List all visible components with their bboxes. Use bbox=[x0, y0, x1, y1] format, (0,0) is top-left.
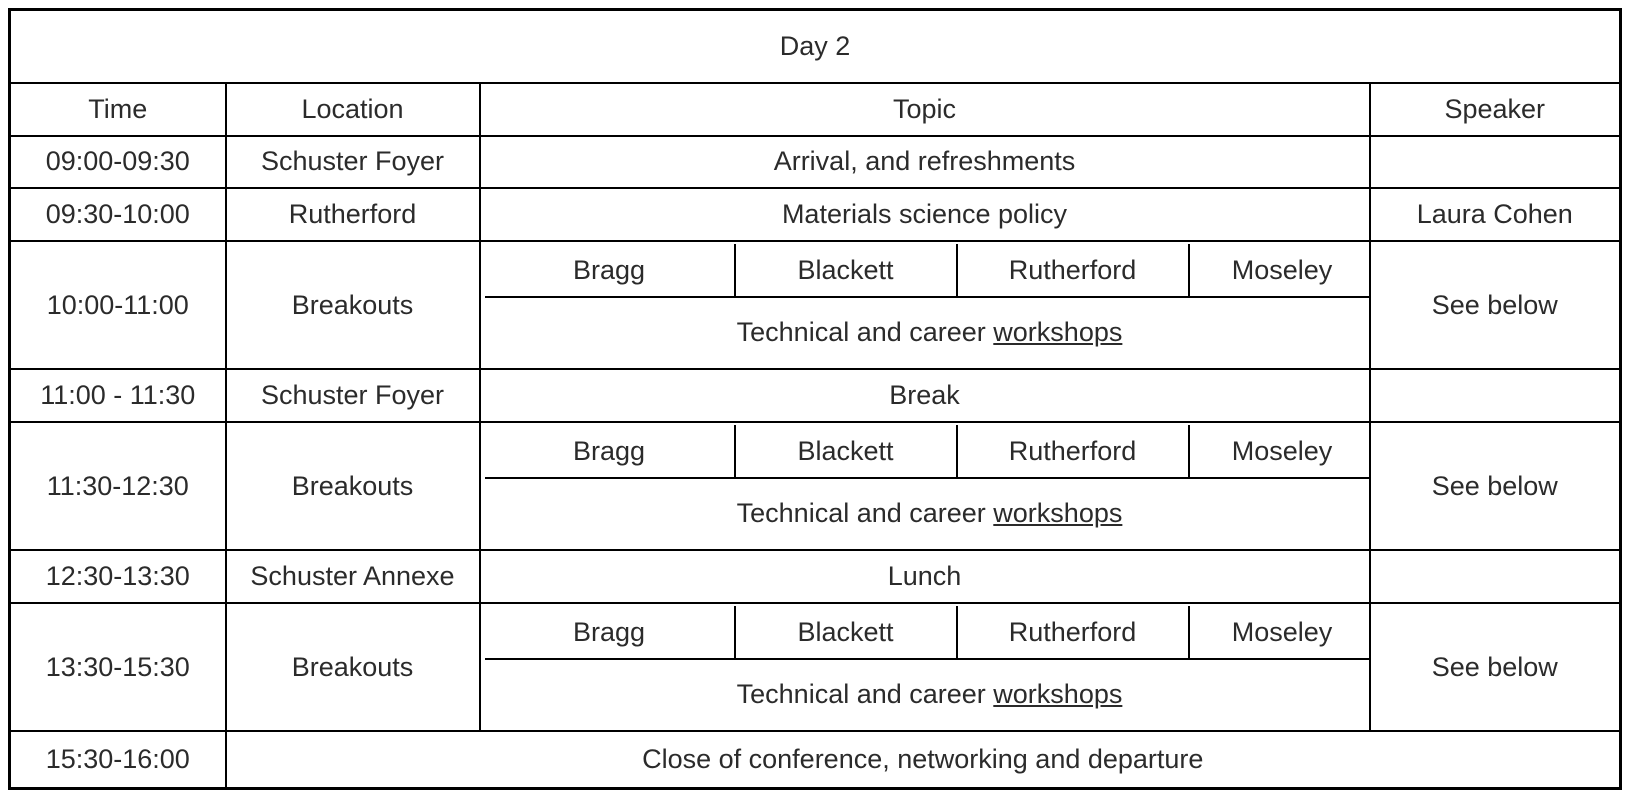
breakout-subtable: Bragg Blackett Rutherford Moseley Techni… bbox=[485, 606, 1375, 728]
breakout-topic-text: Technical and career bbox=[737, 498, 994, 528]
breakout-topic-text: Technical and career bbox=[737, 679, 994, 709]
breakout-topic-row: Technical and career workshops bbox=[485, 659, 1375, 728]
breakout-room-row: Bragg Blackett Rutherford Moseley bbox=[485, 425, 1375, 478]
cell-location: Schuster Foyer bbox=[226, 369, 480, 422]
cell-time: 09:00-09:30 bbox=[10, 136, 226, 188]
column-header-topic: Topic bbox=[480, 83, 1370, 136]
column-header-speaker: Speaker bbox=[1370, 83, 1621, 136]
cell-speaker: See below bbox=[1370, 241, 1621, 369]
breakout-room-rutherford: Rutherford bbox=[957, 606, 1189, 659]
cell-location: Breakouts bbox=[226, 422, 480, 550]
workshops-link[interactable]: workshops bbox=[993, 317, 1122, 347]
cell-time: 12:30-13:30 bbox=[10, 550, 226, 603]
breakout-room-blackett: Blackett bbox=[735, 606, 957, 659]
cell-time: 11:00 - 11:30 bbox=[10, 369, 226, 422]
column-header-location: Location bbox=[226, 83, 480, 136]
breakout-topic-cell: Technical and career workshops bbox=[485, 297, 1375, 366]
breakout-room-moseley: Moseley bbox=[1189, 606, 1375, 659]
column-header-time: Time bbox=[10, 83, 226, 136]
breakout-topic-text: Technical and career bbox=[737, 317, 994, 347]
breakout-room-bragg: Bragg bbox=[485, 606, 735, 659]
breakout-room-moseley: Moseley bbox=[1189, 244, 1375, 297]
breakout-topic-cell: Technical and career workshops bbox=[485, 659, 1375, 728]
table-row: 09:00-09:30 Schuster Foyer Arrival, and … bbox=[10, 136, 1621, 188]
breakout-topic-row: Technical and career workshops bbox=[485, 478, 1375, 547]
breakout-room-bragg: Bragg bbox=[485, 244, 735, 297]
cell-location: Rutherford bbox=[226, 188, 480, 241]
cell-speaker bbox=[1370, 550, 1621, 603]
cell-speaker: Laura Cohen bbox=[1370, 188, 1621, 241]
cell-topic-breakout: Bragg Blackett Rutherford Moseley Techni… bbox=[480, 603, 1370, 731]
cell-topic: Break bbox=[480, 369, 1370, 422]
cell-topic-full: Close of conference, networking and depa… bbox=[226, 731, 1621, 788]
cell-topic-breakout: Bragg Blackett Rutherford Moseley Techni… bbox=[480, 422, 1370, 550]
table-row: 09:30-10:00 Rutherford Materials science… bbox=[10, 188, 1621, 241]
breakout-topic-row: Technical and career workshops bbox=[485, 297, 1375, 366]
cell-speaker: See below bbox=[1370, 603, 1621, 731]
banner-row: Day 2 bbox=[10, 10, 1621, 83]
breakout-subtable: Bragg Blackett Rutherford Moseley Techni… bbox=[485, 425, 1375, 547]
day-title: Day 2 bbox=[10, 10, 1621, 83]
table-row: 11:00 - 11:30 Schuster Foyer Break bbox=[10, 369, 1621, 422]
table-row-breakout: 11:30-12:30 Breakouts Bragg Blackett Rut… bbox=[10, 422, 1621, 550]
cell-speaker bbox=[1370, 369, 1621, 422]
breakout-room-blackett: Blackett bbox=[735, 425, 957, 478]
cell-location: Schuster Annexe bbox=[226, 550, 480, 603]
cell-time: 11:30-12:30 bbox=[10, 422, 226, 550]
cell-topic-breakout: Bragg Blackett Rutherford Moseley Techni… bbox=[480, 241, 1370, 369]
breakout-room-rutherford: Rutherford bbox=[957, 244, 1189, 297]
breakout-room-rutherford: Rutherford bbox=[957, 425, 1189, 478]
workshops-link[interactable]: workshops bbox=[993, 498, 1122, 528]
cell-speaker bbox=[1370, 136, 1621, 188]
breakout-room-moseley: Moseley bbox=[1189, 425, 1375, 478]
breakout-subtable: Bragg Blackett Rutherford Moseley Techni… bbox=[485, 244, 1375, 366]
day-schedule-table: Day 2 Time Location Topic Speaker 09:00-… bbox=[8, 8, 1622, 790]
cell-time: 13:30-15:30 bbox=[10, 603, 226, 731]
cell-topic: Materials science policy bbox=[480, 188, 1370, 241]
table-row: 12:30-13:30 Schuster Annexe Lunch bbox=[10, 550, 1621, 603]
cell-time: 09:30-10:00 bbox=[10, 188, 226, 241]
table-row-breakout: 13:30-15:30 Breakouts Bragg Blackett Rut… bbox=[10, 603, 1621, 731]
cell-location: Breakouts bbox=[226, 241, 480, 369]
breakout-room-row: Bragg Blackett Rutherford Moseley bbox=[485, 244, 1375, 297]
breakout-room-row: Bragg Blackett Rutherford Moseley bbox=[485, 606, 1375, 659]
cell-time: 15:30-16:00 bbox=[10, 731, 226, 788]
breakout-room-blackett: Blackett bbox=[735, 244, 957, 297]
cell-topic: Arrival, and refreshments bbox=[480, 136, 1370, 188]
table-row-breakout: 10:00-11:00 Breakouts Bragg Blackett Rut… bbox=[10, 241, 1621, 369]
cell-location: Breakouts bbox=[226, 603, 480, 731]
column-header-row: Time Location Topic Speaker bbox=[10, 83, 1621, 136]
cell-time: 10:00-11:00 bbox=[10, 241, 226, 369]
breakout-topic-cell: Technical and career workshops bbox=[485, 478, 1375, 547]
cell-location: Schuster Foyer bbox=[226, 136, 480, 188]
cell-topic: Lunch bbox=[480, 550, 1370, 603]
cell-speaker: See below bbox=[1370, 422, 1621, 550]
workshops-link[interactable]: workshops bbox=[993, 679, 1122, 709]
schedule-container: Day 2 Time Location Topic Speaker 09:00-… bbox=[0, 0, 1627, 800]
breakout-room-bragg: Bragg bbox=[485, 425, 735, 478]
table-row: 15:30-16:00 Close of conference, network… bbox=[10, 731, 1621, 788]
